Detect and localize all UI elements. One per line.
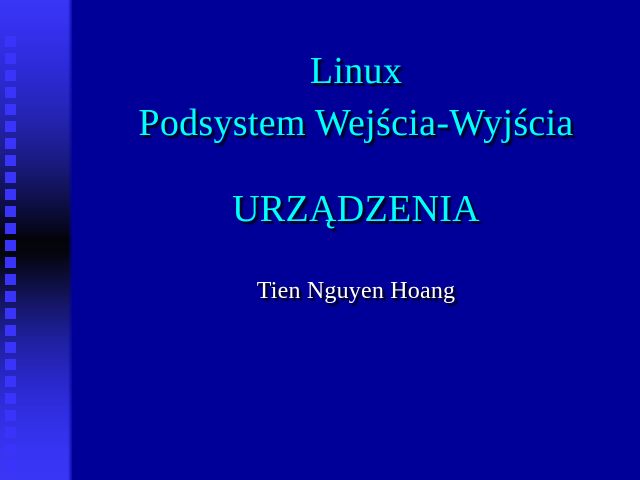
sidebar-square	[5, 359, 16, 370]
sidebar-square	[5, 291, 16, 302]
slide-content: Linux Podsystem Wejścia-Wyjścia URZĄDZEN…	[72, 0, 640, 480]
sidebar-square	[5, 121, 16, 132]
sidebar-square	[5, 410, 16, 421]
sidebar-square	[5, 325, 16, 336]
presentation-slide: Linux Podsystem Wejścia-Wyjścia URZĄDZEN…	[0, 0, 640, 480]
sidebar-square	[5, 155, 16, 166]
sidebar-decoration	[0, 0, 72, 480]
sidebar-square	[5, 257, 16, 268]
sidebar-square	[5, 70, 16, 81]
slide-title-line-1: Linux	[72, 52, 640, 90]
sidebar-square	[5, 427, 16, 438]
sidebar-square	[5, 172, 16, 183]
sidebar-square	[5, 87, 16, 98]
sidebar-square	[5, 376, 16, 387]
sidebar-square	[5, 274, 16, 285]
sidebar-square	[5, 53, 16, 64]
sidebar-square	[5, 308, 16, 319]
sidebar-square	[5, 189, 16, 200]
sidebar-square	[5, 461, 16, 472]
sidebar-square	[5, 444, 16, 455]
slide-title-line-2: Podsystem Wejścia-Wyjścia	[72, 104, 640, 142]
sidebar-square	[5, 36, 16, 47]
slide-heading: URZĄDZENIA	[72, 190, 640, 228]
slide-author: Tien Nguyen Hoang	[72, 279, 640, 303]
sidebar-square	[5, 138, 16, 149]
sidebar-square	[5, 223, 16, 234]
sidebar-square-strip	[0, 0, 72, 480]
sidebar-square	[5, 393, 16, 404]
sidebar-square	[5, 104, 16, 115]
sidebar-square	[5, 206, 16, 217]
sidebar-square	[5, 240, 16, 251]
sidebar-square	[5, 342, 16, 353]
